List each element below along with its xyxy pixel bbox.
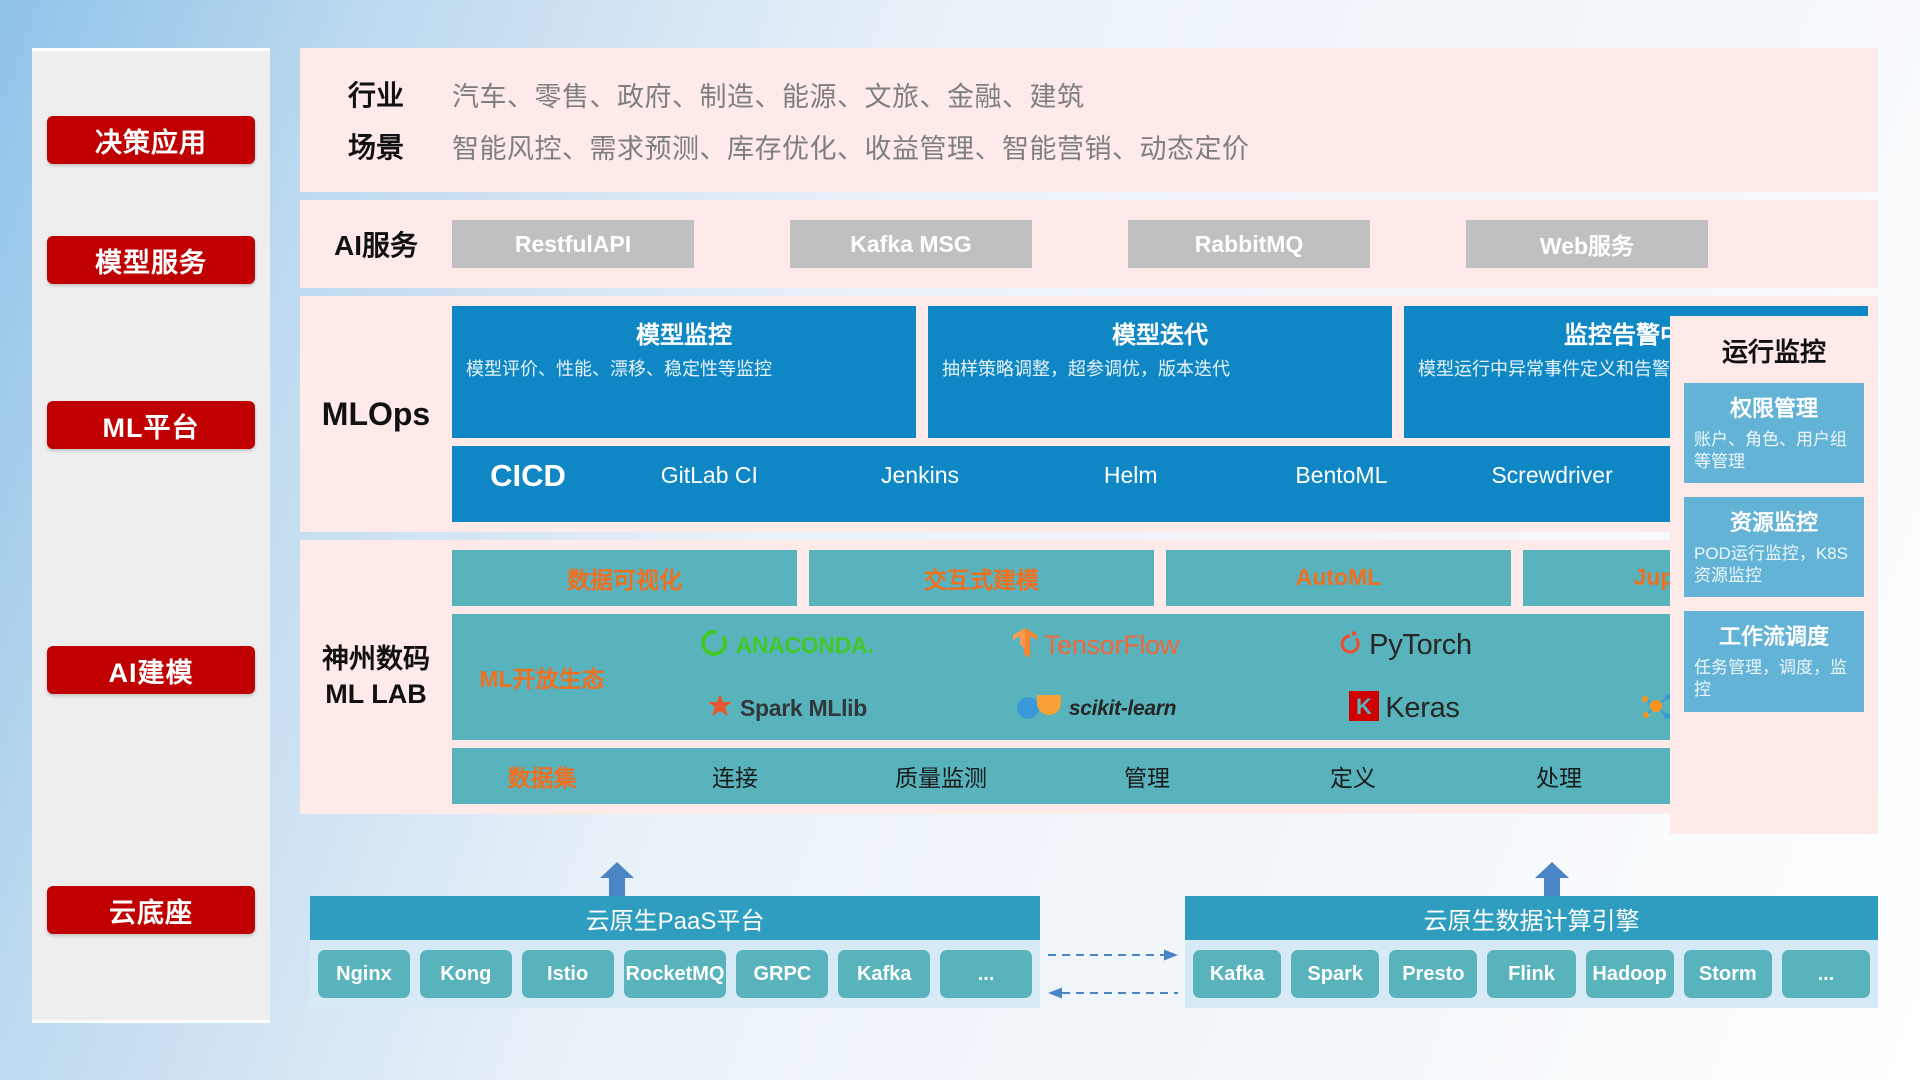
tool-chip-automl[interactable]: AutoML xyxy=(1166,550,1511,606)
anaconda-logo: ANACONDA. xyxy=(700,628,874,663)
engine-chip-presto[interactable]: Presto xyxy=(1389,950,1477,998)
card-title: 模型迭代 xyxy=(942,315,1378,350)
dataset-item-process[interactable]: 处理 xyxy=(1456,759,1662,793)
ml-ecosystem-label: ML开放生态 xyxy=(452,660,632,694)
band-decision-applications: 行业 汽车、零售、政府、制造、能源、文旅、金融、建筑 场景 智能风控、需求预测、… xyxy=(300,48,1878,192)
engine-up-arrow-icon xyxy=(1535,862,1569,898)
cicd-item-jenkins[interactable]: Jenkins xyxy=(815,458,1026,488)
monitor-card-permission[interactable]: 权限管理 账户、角色、用户组等管理 xyxy=(1684,383,1864,483)
ml-ecosystem-row: ML开放生态 ANACONDA. xyxy=(452,614,1868,741)
pytorch-icon xyxy=(1337,628,1363,663)
ml-lab-body: 数据可视化 交互式建模 AutoML JupyterLab ML开放生态 xyxy=(452,540,1878,814)
tool-chip-interactive-modeling[interactable]: 交互式建模 xyxy=(809,550,1154,606)
dataset-item-manage[interactable]: 管理 xyxy=(1044,759,1250,793)
ai-service-list: RestfulAPI Kafka MSG RabbitMQ Web服务 xyxy=(452,220,1708,268)
band-mlops: MLOps 模型监控 模型评价、性能、漂移、稳定性等监控 模型迭代 抽样策略调整… xyxy=(300,296,1878,532)
layer-chip-decision[interactable]: 决策应用 xyxy=(47,116,255,164)
paas-chip-row: Nginx Kong Istio RocketMQ GRPC Kafka ... xyxy=(310,940,1040,1008)
dataset-item-quality-monitoring[interactable]: 质量监测 xyxy=(838,759,1044,793)
connector-left-arrow xyxy=(1048,986,1178,1005)
tensorflow-icon xyxy=(1012,627,1038,664)
keras-label: Keras xyxy=(1385,692,1459,725)
mlops-label: MLOps xyxy=(300,296,452,532)
mlops-card-model-iteration[interactable]: 模型迭代 抽样策略调整，超参调优，版本迭代 xyxy=(928,306,1392,438)
paas-chip-grpc[interactable]: GRPC xyxy=(736,950,828,998)
monitor-card-workflow[interactable]: 工作流调度 任务管理，调度，监控 xyxy=(1684,611,1864,711)
dataset-item-connect[interactable]: 连接 xyxy=(632,759,838,793)
cicd-label: CICD xyxy=(452,458,604,494)
ml-lab-tool-row: 数据可视化 交互式建模 AutoML JupyterLab xyxy=(452,550,1868,606)
dataset-item-define[interactable]: 定义 xyxy=(1250,759,1456,793)
card-desc: 账户、角色、用户组等管理 xyxy=(1694,429,1854,473)
ml-lab-label: 神州数码 ML LAB xyxy=(300,540,452,814)
mlops-body: 模型监控 模型评价、性能、漂移、稳定性等监控 模型迭代 抽样策略调整，超参调优，… xyxy=(452,296,1878,532)
card-desc: 抽样策略调整，超参调优，版本迭代 xyxy=(942,358,1378,382)
engine-chip-hadoop[interactable]: Hadoop xyxy=(1586,950,1674,998)
layer-chip-cloud-base[interactable]: 云底座 xyxy=(47,886,255,934)
tensorflow-logo: TensorFlow xyxy=(1012,627,1179,664)
runtime-monitoring-panel: 运行监控 权限管理 账户、角色、用户组等管理 资源监控 POD运行监控，K8S资… xyxy=(1670,316,1878,834)
layer-chip-ml-platform[interactable]: ML平台 xyxy=(47,401,255,449)
networkx-icon xyxy=(1640,691,1672,726)
tensorflow-label: TensorFlow xyxy=(1044,630,1179,661)
spark-icon xyxy=(706,692,734,725)
paas-chip-nginx[interactable]: Nginx xyxy=(318,950,410,998)
layer-chip-ai-modeling[interactable]: AI建模 xyxy=(47,646,255,694)
mlops-card-model-monitoring[interactable]: 模型监控 模型评价、性能、漂移、稳定性等监控 xyxy=(452,306,916,438)
data-engine-chip-row: Kafka Spark Presto Flink Hadoop Storm ..… xyxy=(1185,940,1878,1008)
paas-chip-kafka[interactable]: Kafka xyxy=(838,950,930,998)
ai-service-item-rabbitmq[interactable]: RabbitMQ xyxy=(1128,220,1370,268)
engine-chip-kafka[interactable]: Kafka xyxy=(1193,950,1281,998)
keras-icon: K xyxy=(1349,691,1379,726)
band-ml-lab: 神州数码 ML LAB 数据可视化 交互式建模 AutoML JupyterLa… xyxy=(300,540,1878,814)
architecture-stack: 行业 汽车、零售、政府、制造、能源、文旅、金融、建筑 场景 智能风控、需求预测、… xyxy=(300,48,1878,814)
band-ai-service: AI服务 RestfulAPI Kafka MSG RabbitMQ Web服务 xyxy=(300,200,1878,288)
dataset-row: 数据集 连接 质量监测 管理 定义 处理 加载 xyxy=(452,748,1868,804)
engine-chip-spark[interactable]: Spark xyxy=(1291,950,1379,998)
spark-mllib-label: Spark MLlib xyxy=(740,695,867,722)
paas-block: 云原生PaaS平台 Nginx Kong Istio RocketMQ GRPC… xyxy=(310,896,1040,1008)
ai-service-item-restfulapi[interactable]: RestfulAPI xyxy=(452,220,694,268)
card-title: 权限管理 xyxy=(1694,391,1854,423)
ai-service-item-web[interactable]: Web服务 xyxy=(1466,220,1708,268)
industry-row: 行业 汽车、零售、政府、制造、能源、文旅、金融、建筑 xyxy=(300,68,1878,120)
engine-chip-more[interactable]: ... xyxy=(1782,950,1870,998)
mlops-card-row: 模型监控 模型评价、性能、漂移、稳定性等监控 模型迭代 抽样策略调整，超参调优，… xyxy=(452,306,1868,438)
engine-chip-flink[interactable]: Flink xyxy=(1487,950,1575,998)
industry-values: 汽车、零售、政府、制造、能源、文旅、金融、建筑 xyxy=(452,75,1085,114)
layer-rail: 决策应用 模型服务 ML平台 AI建模 云底座 xyxy=(32,48,270,1023)
anaconda-label: ANACONDA. xyxy=(736,632,874,659)
scenario-row: 场景 智能风控、需求预测、库存优化、收益管理、智能营销、动态定价 xyxy=(300,120,1878,172)
scenario-values: 智能风控、需求预测、库存优化、收益管理、智能营销、动态定价 xyxy=(452,127,1250,166)
scikit-learn-icon xyxy=(1015,691,1063,726)
paas-chip-more[interactable]: ... xyxy=(940,950,1032,998)
connector-right-arrow xyxy=(1048,948,1178,967)
cicd-item-screwdriver[interactable]: Screwdriver xyxy=(1447,458,1658,488)
runtime-monitoring-title: 运行监控 xyxy=(1684,332,1864,369)
card-desc: 任务管理，调度，监控 xyxy=(1694,657,1854,701)
paas-up-arrow-icon xyxy=(600,862,634,898)
cloud-foundation: 云原生PaaS平台 Nginx Kong Istio RocketMQ GRPC… xyxy=(300,862,1878,1022)
scenario-label: 场景 xyxy=(300,126,452,166)
layer-chip-model-serve[interactable]: 模型服务 xyxy=(47,236,255,284)
card-desc: POD运行监控，K8S资源监控 xyxy=(1694,543,1854,587)
ai-service-label: AI服务 xyxy=(300,224,452,264)
card-title: 资源监控 xyxy=(1694,505,1854,537)
cicd-item-helm[interactable]: Helm xyxy=(1025,458,1236,488)
keras-logo: K Keras xyxy=(1349,691,1459,726)
tool-chip-data-visualization[interactable]: 数据可视化 xyxy=(452,550,797,606)
cicd-item-gitlab-ci[interactable]: GitLab CI xyxy=(604,458,815,488)
paas-chip-kong[interactable]: Kong xyxy=(420,950,512,998)
card-desc: 模型评价、性能、漂移、稳定性等监控 xyxy=(466,358,902,382)
paas-title: 云原生PaaS平台 xyxy=(310,896,1040,940)
engine-chip-storm[interactable]: Storm xyxy=(1684,950,1772,998)
ml-lab-label-line1: 神州数码 xyxy=(322,642,430,677)
monitor-card-resource[interactable]: 资源监控 POD运行监控，K8S资源监控 xyxy=(1684,497,1864,597)
paas-chip-istio[interactable]: Istio xyxy=(522,950,614,998)
industry-label: 行业 xyxy=(300,74,452,114)
cicd-item-bentoml[interactable]: BentoML xyxy=(1236,458,1447,488)
ai-service-item-kafka-msg[interactable]: Kafka MSG xyxy=(790,220,1032,268)
card-title: 模型监控 xyxy=(466,315,902,350)
scikit-learn-label: scikit-learn xyxy=(1069,697,1176,721)
dataset-label: 数据集 xyxy=(452,759,632,793)
svg-text:K: K xyxy=(1356,694,1372,719)
scikit-learn-logo: scikit-learn xyxy=(1015,691,1176,726)
ml-lab-label-line2: ML LAB xyxy=(322,677,430,712)
data-engine-title: 云原生数据计算引擎 xyxy=(1185,896,1878,940)
anaconda-icon xyxy=(700,628,730,663)
card-title: 工作流调度 xyxy=(1694,619,1854,651)
pytorch-logo: PyTorch xyxy=(1337,628,1472,663)
cicd-bar: CICD GitLab CI Jenkins Helm BentoML Scre… xyxy=(452,446,1868,522)
spark-mllib-logo: Spark MLlib xyxy=(706,692,867,725)
data-engine-block: 云原生数据计算引擎 Kafka Spark Presto Flink Hadoo… xyxy=(1185,896,1878,1008)
paas-chip-rocketmq[interactable]: RocketMQ xyxy=(624,950,727,998)
pytorch-label: PyTorch xyxy=(1369,629,1472,662)
